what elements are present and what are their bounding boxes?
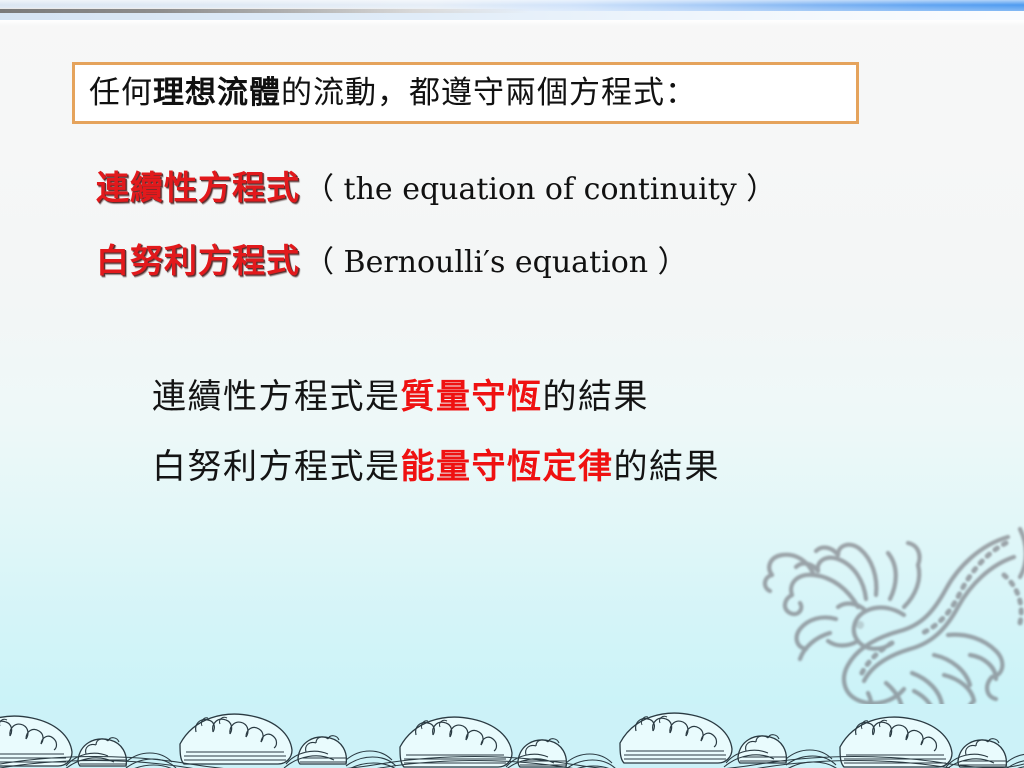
slide-canvas: 任何理想流體的流動，都遵守兩個方程式： 連續性方程式 （ the equatio…	[0, 0, 1024, 768]
heading-bernoulli-english: （ Bernoulli′s equation ）	[304, 237, 688, 281]
body-line-continuity-highlight: 質量守恆	[401, 377, 543, 417]
title-box: 任何理想流體的流動，都遵守兩個方程式：	[72, 62, 859, 124]
heading-continuity-equation: 連續性方程式 （ the equation of continuity ）	[96, 161, 776, 209]
body-line-continuity-suffix: 的結果	[543, 377, 650, 417]
top-decor-bar	[0, 0, 1024, 26]
body-line-continuity-prefix: 連續性方程式是	[152, 377, 401, 417]
title-segment-plain-2: 的流動，都遵守兩個方程式：	[281, 75, 697, 111]
top-bar-white-fade	[0, 20, 1024, 26]
body-line-bernoulli-prefix: 白努利方程式是	[152, 447, 401, 487]
heading-bernoulli-chinese: 白努利方程式	[96, 234, 300, 282]
chinese-dragon-watermark-icon	[708, 515, 1024, 730]
body-line-continuity: 連續性方程式是質量守恆的結果	[152, 369, 649, 418]
heading-bernoulli-equation: 白努利方程式 （ Bernoulli′s equation ）	[96, 234, 688, 282]
top-bar-gray-rule	[0, 9, 530, 13]
title-text: 任何理想流體的流動，都遵守兩個方程式：	[75, 78, 697, 109]
heading-continuity-english: （ the equation of continuity ）	[304, 164, 776, 208]
body-line-bernoulli: 白努利方程式是能量守恆定律的結果	[152, 439, 720, 488]
ocean-wave-pattern-icon	[0, 704, 1024, 768]
body-line-bernoulli-highlight: 能量守恆定律	[401, 447, 614, 487]
title-segment-plain-1: 任何	[89, 75, 153, 111]
heading-continuity-chinese: 連續性方程式	[96, 161, 300, 209]
title-segment-emphasis: 理想流體	[153, 75, 281, 111]
body-line-bernoulli-suffix: 的結果	[614, 447, 721, 487]
